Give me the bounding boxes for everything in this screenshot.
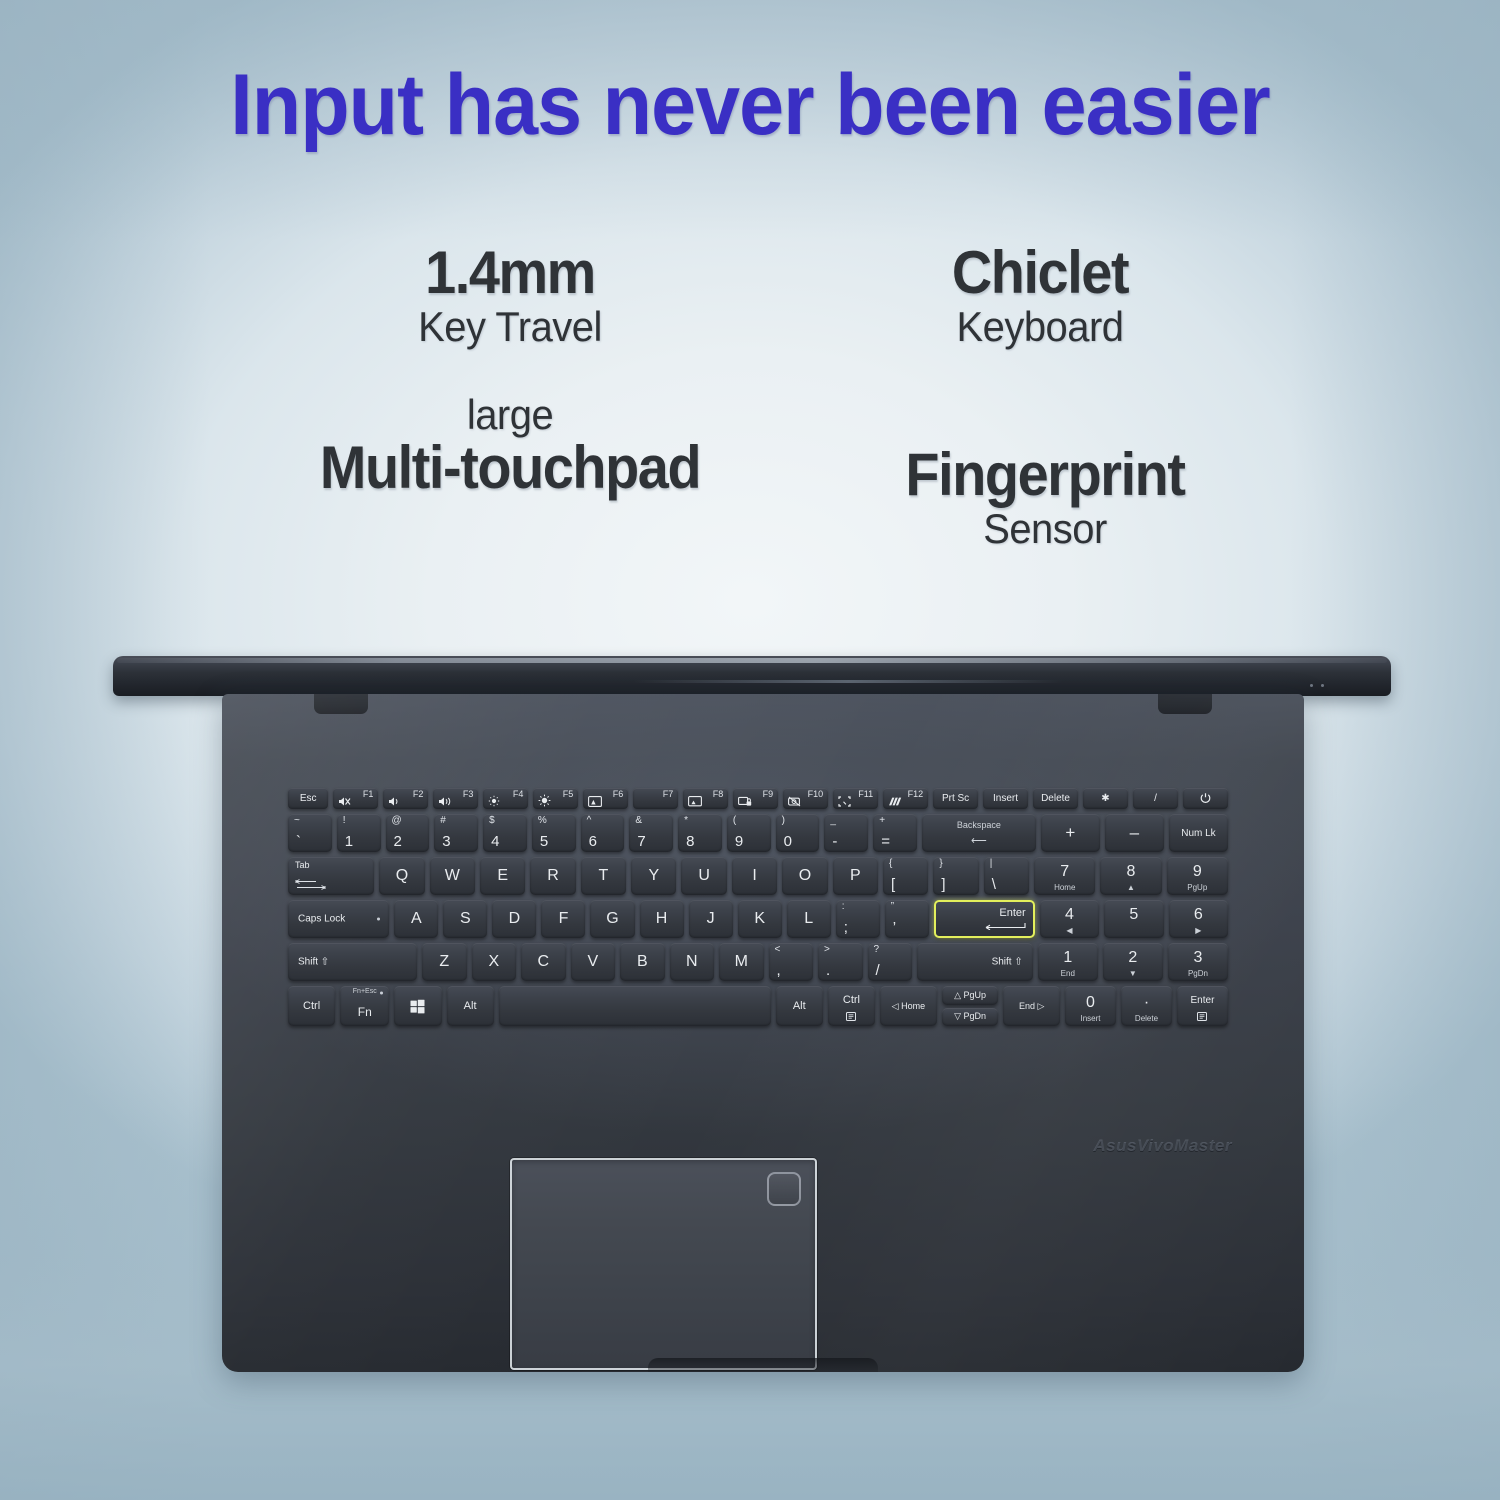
lid-indicator-dots <box>1310 684 1336 688</box>
key-k[interactable]: K <box>738 900 782 938</box>
feature-callouts: 1.4mm Key Travel Chiclet Keyboard large … <box>0 225 1500 565</box>
brightness-down-icon <box>488 795 500 807</box>
key-l[interactable]: L <box>787 900 831 938</box>
key-numpad-2[interactable]: 2▼ <box>1103 943 1163 981</box>
speaker-mute-icon <box>338 796 351 807</box>
key-7[interactable]: &7 <box>629 814 673 852</box>
key-s[interactable]: S <box>443 900 487 938</box>
key-numpad-1[interactable]: 1End <box>1038 943 1098 981</box>
laptop-product-photo: Esc F1 F2 F3 <box>0 636 1500 1376</box>
key-numpad-minus[interactable]: – <box>1105 814 1164 852</box>
display-switch-icon <box>688 796 702 807</box>
key-4[interactable]: $4 <box>483 814 527 852</box>
key-insert[interactable]: Insert <box>983 788 1028 809</box>
key-f8-display-switch[interactable]: F8 <box>683 788 728 809</box>
key-backtick[interactable]: ~` <box>288 814 332 852</box>
key-arrow-right-end[interactable]: End ▷ <box>1003 986 1060 1026</box>
key-windows[interactable] <box>394 986 441 1026</box>
enter-arrow-icon <box>982 922 1026 930</box>
feature-fingerprint: Fingerprint Sensor <box>835 445 1255 552</box>
key-quote[interactable]: ”’ <box>885 900 929 938</box>
keyboard-row-bottom-letters: Shift ⇧ Z X C V B N M <, >. ?/ Shift ⇧ 1… <box>288 943 1228 981</box>
key-f6-touchpad-toggle[interactable]: F6 <box>583 788 628 809</box>
key-j[interactable]: J <box>689 900 733 938</box>
key-numpad-6[interactable]: 6▶ <box>1169 900 1228 938</box>
key-m[interactable]: M <box>719 943 764 981</box>
touchpad[interactable] <box>510 1158 817 1370</box>
key-numpad-0-insert[interactable]: 0Insert <box>1065 986 1116 1026</box>
key-f10-camera-off[interactable]: F10 <box>783 788 828 809</box>
key-minus[interactable]: _- <box>824 814 868 852</box>
key-comma[interactable]: <, <box>769 943 814 981</box>
key-5[interactable]: %5 <box>532 814 576 852</box>
key-alt-left[interactable]: Alt <box>447 986 494 1026</box>
key-d[interactable]: D <box>492 900 536 938</box>
key-c[interactable]: C <box>521 943 566 981</box>
key-slash-numpad[interactable]: / <box>1133 788 1178 809</box>
key-numpad-enter[interactable]: Enter <box>1177 986 1228 1026</box>
key-alt-right[interactable]: Alt <box>776 986 823 1026</box>
volume-down-icon <box>388 796 401 807</box>
windows-logo-icon <box>410 999 425 1014</box>
key-0[interactable]: )0 <box>776 814 820 852</box>
key-shift-right[interactable]: Shift ⇧ <box>917 943 1033 981</box>
key-e[interactable]: E <box>480 857 525 895</box>
laptop-deck: Esc F1 F2 F3 <box>222 694 1304 1372</box>
feature-chiclet-value: Chiclet <box>845 243 1236 303</box>
key-z[interactable]: Z <box>422 943 467 981</box>
key-6[interactable]: ^6 <box>581 814 625 852</box>
key-i[interactable]: I <box>732 857 777 895</box>
key-numpad-4[interactable]: 4◀ <box>1040 900 1099 938</box>
key-f5-brightness-up[interactable]: F5 <box>533 788 578 809</box>
fingerprint-sensor-icon[interactable] <box>767 1172 801 1206</box>
caps-lock-led <box>377 918 380 921</box>
hinge-right <box>1158 694 1212 714</box>
screen-lock-icon <box>738 796 752 807</box>
keyboard: Esc F1 F2 F3 <box>288 788 1228 1031</box>
feature-multi-touchpad-value: Multi-touchpad <box>268 438 752 498</box>
key-backspace[interactable]: Backspace ⟵ <box>922 814 1036 852</box>
page-title: Input has never been easier <box>45 60 1455 150</box>
key-n[interactable]: N <box>670 943 715 981</box>
key-o[interactable]: O <box>782 857 827 895</box>
key-g[interactable]: G <box>590 900 634 938</box>
key-tab[interactable]: Tab <box>288 857 374 895</box>
feature-key-travel-value: 1.4mm <box>315 243 706 303</box>
myasus-icon <box>888 796 902 807</box>
key-f7[interactable]: F7 <box>633 788 678 809</box>
key-fn[interactable]: Fn+Esc Fn <box>340 986 389 1026</box>
key-f9-screen-lock[interactable]: F9 <box>733 788 778 809</box>
deck-front-notch <box>648 1358 878 1372</box>
key-f11-snip-tool[interactable]: F11 <box>833 788 878 809</box>
key-arrow-up-pgup[interactable]: △ PgUp <box>942 986 999 1005</box>
keyboard-row-function: Esc F1 F2 F3 <box>288 788 1228 809</box>
key-numpad-7[interactable]: 7Home <box>1034 857 1095 895</box>
numpad-enter-icon <box>1197 1012 1207 1021</box>
feature-key-travel-label: Key Travel <box>311 303 710 350</box>
key-h[interactable]: H <box>640 900 684 938</box>
key-numpad-9[interactable]: 9PgUp <box>1167 857 1228 895</box>
volume-up-icon <box>438 796 453 807</box>
key-f4-brightness-down[interactable]: F4 <box>483 788 528 809</box>
key-f3-volume-up[interactable]: F3 <box>433 788 478 809</box>
key-print-screen[interactable]: Prt Sc <box>933 788 978 809</box>
key-ctrl-right[interactable]: Ctrl <box>828 986 875 1026</box>
key-period[interactable]: >. <box>818 943 863 981</box>
laptop-lid-edge <box>113 656 1391 696</box>
key-keyboard-backlight[interactable]: ✱ <box>1083 788 1128 809</box>
feature-chiclet-label: Keyboard <box>841 303 1240 350</box>
key-numpad-3[interactable]: 3PgDn <box>1168 943 1228 981</box>
keyboard-row-home: Caps Lock A S D F G H J K L :; ”’ Enter <box>288 900 1228 938</box>
key-q[interactable]: Q <box>379 857 424 895</box>
key-esc[interactable]: Esc <box>288 788 328 809</box>
power-icon <box>1199 792 1212 805</box>
key-u[interactable]: U <box>681 857 726 895</box>
feature-multi-touchpad-label: large <box>263 391 757 438</box>
key-bracket-left[interactable]: {[ <box>883 857 928 895</box>
feature-fingerprint-value: Fingerprint <box>850 445 1241 505</box>
key-numpad-dot-delete[interactable]: ·Delete <box>1121 986 1172 1026</box>
key-numpad-plus[interactable]: + <box>1041 814 1100 852</box>
key-equals[interactable]: += <box>873 814 917 852</box>
key-enter[interactable]: Enter <box>934 900 1035 938</box>
feature-fingerprint-label: Sensor <box>846 505 1245 552</box>
hinge-left <box>314 694 368 714</box>
key-f[interactable]: F <box>541 900 585 938</box>
key-numpad-5[interactable]: 5 <box>1104 900 1163 938</box>
key-f2-volume-down[interactable]: F2 <box>383 788 428 809</box>
feature-key-travel: 1.4mm Key Travel <box>300 243 720 350</box>
key-p[interactable]: P <box>833 857 878 895</box>
key-1[interactable]: !1 <box>337 814 381 852</box>
key-power[interactable] <box>1183 788 1228 809</box>
key-t[interactable]: T <box>581 857 626 895</box>
tab-arrows-icon <box>295 879 329 890</box>
key-num-lock[interactable]: Num Lk <box>1169 814 1228 852</box>
key-y[interactable]: Y <box>631 857 676 895</box>
key-3[interactable]: #3 <box>434 814 478 852</box>
key-arrow-left-home[interactable]: ◁ Home <box>880 986 937 1026</box>
key-2[interactable]: @2 <box>386 814 430 852</box>
arrow-up-down-stack: △ PgUp ▽ PgDn <box>942 986 999 1026</box>
context-menu-icon <box>846 1012 856 1021</box>
key-x[interactable]: X <box>472 943 517 981</box>
feature-chiclet: Chiclet Keyboard <box>830 243 1250 350</box>
key-bracket-right[interactable]: }] <box>933 857 978 895</box>
key-w[interactable]: W <box>430 857 475 895</box>
key-backslash[interactable]: |\ <box>984 857 1029 895</box>
key-numpad-8[interactable]: 8▲ <box>1100 857 1161 895</box>
lid-groove <box>633 680 1063 683</box>
keyboard-row-numbers: ~` !1 @2 #3 $4 %5 ^6 &7 *8 (9 )0 _- += B… <box>288 814 1228 852</box>
key-caps-lock[interactable]: Caps Lock <box>288 900 389 938</box>
key-8[interactable]: *8 <box>678 814 722 852</box>
fn-lock-led <box>380 992 383 995</box>
snip-tool-icon <box>838 796 851 807</box>
key-slash[interactable]: ?/ <box>868 943 913 981</box>
key-9[interactable]: (9 <box>727 814 771 852</box>
key-f1-mute[interactable]: F1 <box>333 788 378 809</box>
keyboard-row-qwerty: Tab Q W E R T Y U I O P {[ }] |\ 7Home <box>288 857 1228 895</box>
key-a[interactable]: A <box>394 900 438 938</box>
key-f12-myasus[interactable]: F12 <box>883 788 928 809</box>
key-semicolon[interactable]: :; <box>836 900 880 938</box>
key-arrow-down-pgdn[interactable]: ▽ PgDn <box>942 1008 999 1027</box>
key-b[interactable]: B <box>620 943 665 981</box>
keyboard-row-modifiers: Ctrl Fn+Esc Fn Alt Alt Ctrl <box>288 986 1228 1026</box>
key-r[interactable]: R <box>530 857 575 895</box>
brand-logo: AsusVivoMaster <box>1093 1136 1232 1156</box>
camera-off-icon <box>788 796 802 807</box>
key-ctrl-left[interactable]: Ctrl <box>288 986 335 1026</box>
key-shift-left[interactable]: Shift ⇧ <box>288 943 417 981</box>
key-v[interactable]: V <box>571 943 616 981</box>
key-space[interactable] <box>499 986 771 1026</box>
touchpad-toggle-icon <box>588 796 602 807</box>
key-delete[interactable]: Delete <box>1033 788 1078 809</box>
feature-multi-touchpad: large Multi-touchpad <box>250 391 770 498</box>
brightness-up-icon <box>538 794 551 807</box>
